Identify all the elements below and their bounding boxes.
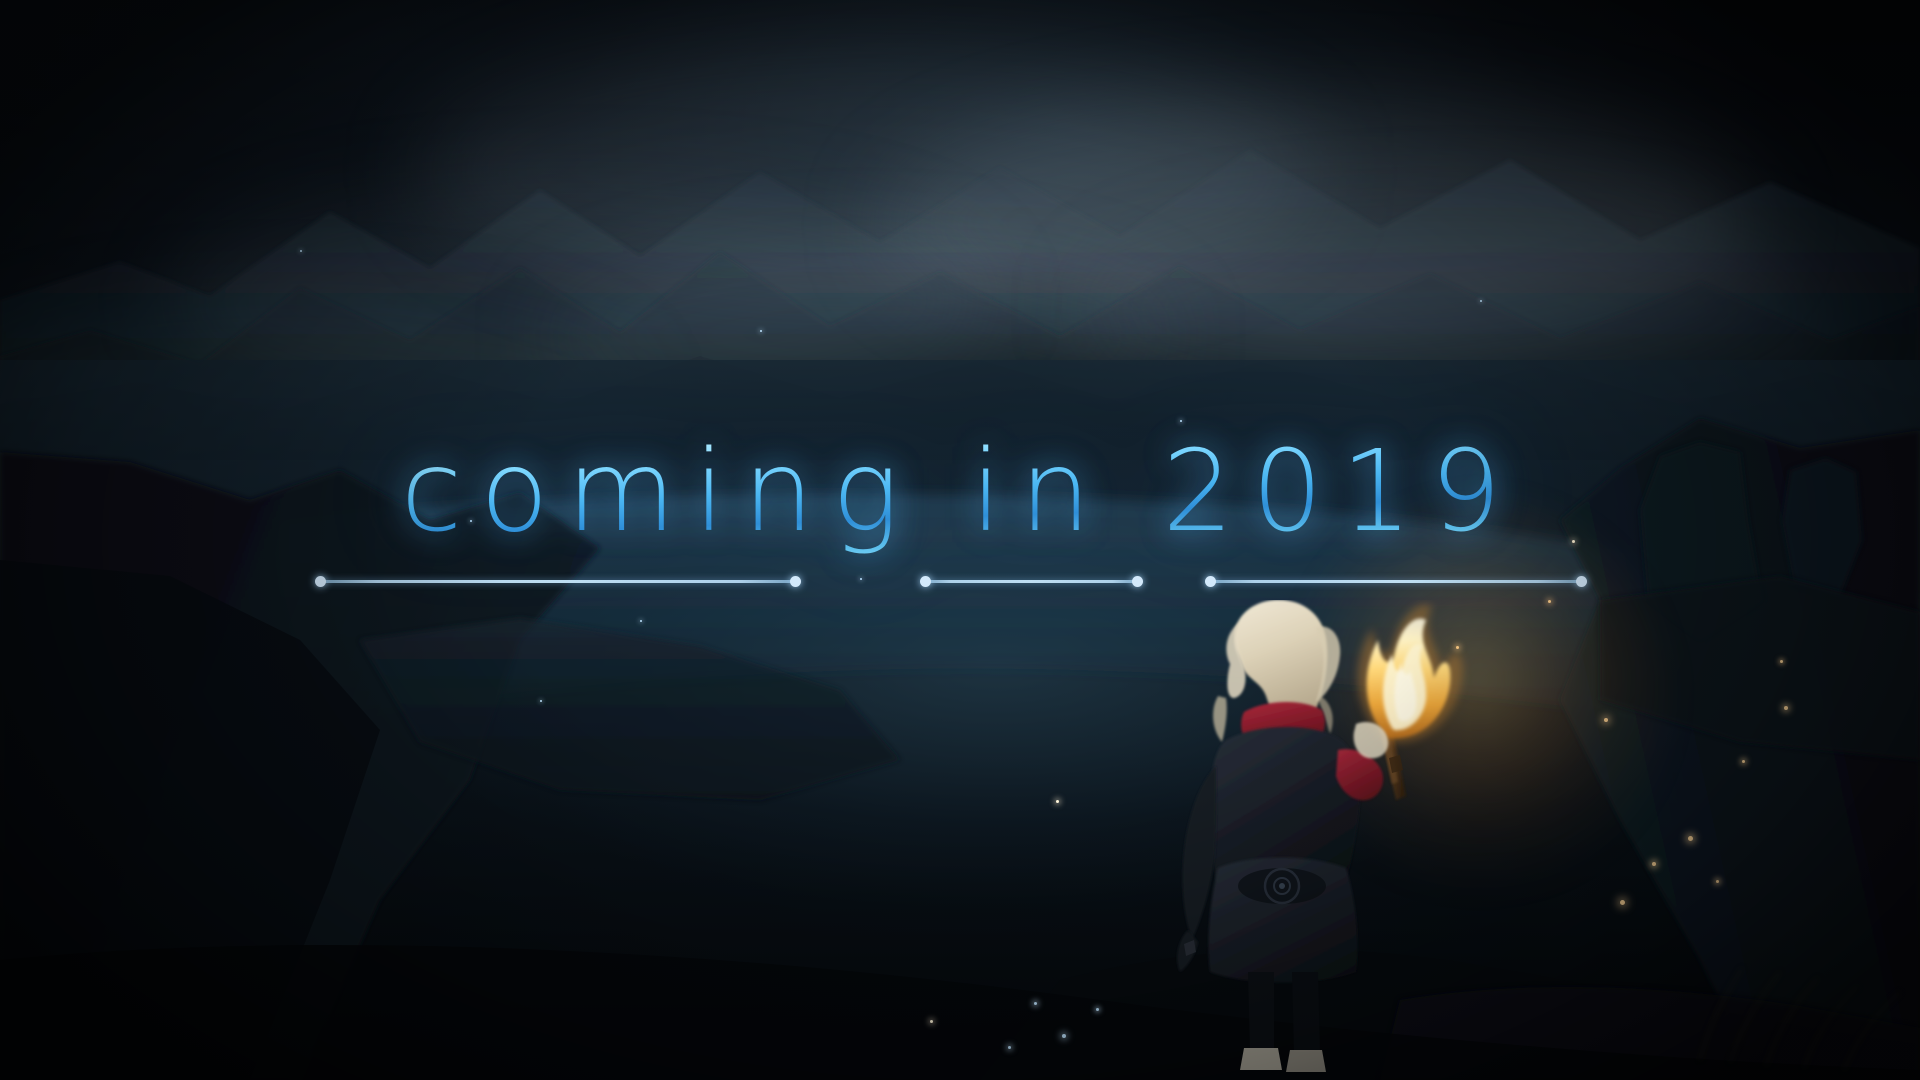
rule-left-start-dot bbox=[315, 576, 326, 587]
title-card-scene: coming in 2019 coming in 2019 bbox=[0, 0, 1920, 1080]
cloaked-traveler-figure bbox=[1170, 600, 1500, 1080]
page-title: coming in 2019 bbox=[0, 430, 1920, 554]
rule-right bbox=[1210, 580, 1582, 583]
rule-middle-end-dot bbox=[1132, 576, 1143, 587]
rule-middle-start-dot bbox=[920, 576, 931, 587]
rule-left bbox=[320, 580, 796, 583]
rule-right-end-dot bbox=[1576, 576, 1587, 587]
title-block: coming in 2019 coming in 2019 bbox=[0, 430, 1920, 610]
rule-middle bbox=[925, 580, 1138, 583]
rule-left-end-dot bbox=[790, 576, 801, 587]
rule-right-start-dot bbox=[1205, 576, 1216, 587]
